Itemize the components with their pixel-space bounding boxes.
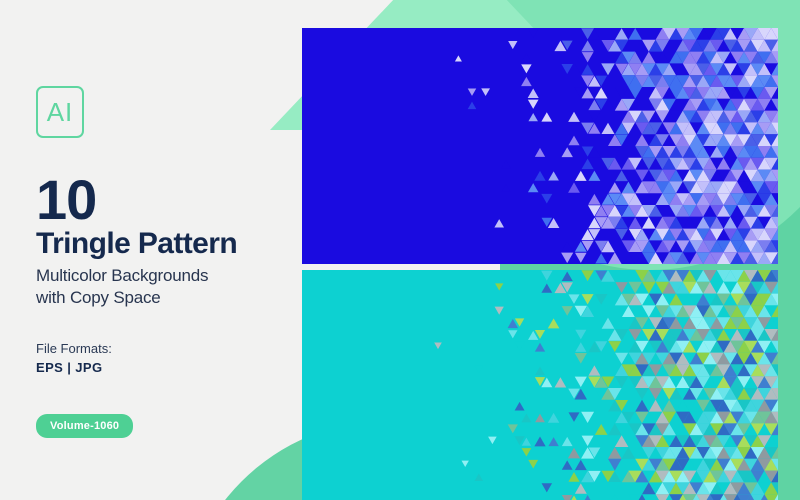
subtitle-line-2: with Copy Space — [36, 287, 208, 309]
pack-count: 10 — [36, 172, 96, 228]
file-formats-label: File Formats: — [36, 341, 112, 356]
file-formats-value: EPS | JPG — [36, 360, 103, 375]
ai-badge-label: AI — [47, 97, 74, 128]
poster-canvas: AI 10 Tringle Pattern Multicolor Backgro… — [0, 0, 800, 500]
info-column: AI 10 Tringle Pattern Multicolor Backgro… — [36, 0, 306, 500]
preview-panel-cyan[interactable] — [302, 270, 778, 500]
page-title: Tringle Pattern — [36, 228, 237, 260]
preview-panel-blue[interactable] — [302, 28, 778, 264]
page-subtitle: Multicolor Backgrounds with Copy Space — [36, 265, 208, 309]
adobe-illustrator-badge-icon: AI — [36, 86, 84, 138]
volume-badge: Volume-1060 — [36, 414, 133, 438]
subtitle-line-1: Multicolor Backgrounds — [36, 265, 208, 287]
